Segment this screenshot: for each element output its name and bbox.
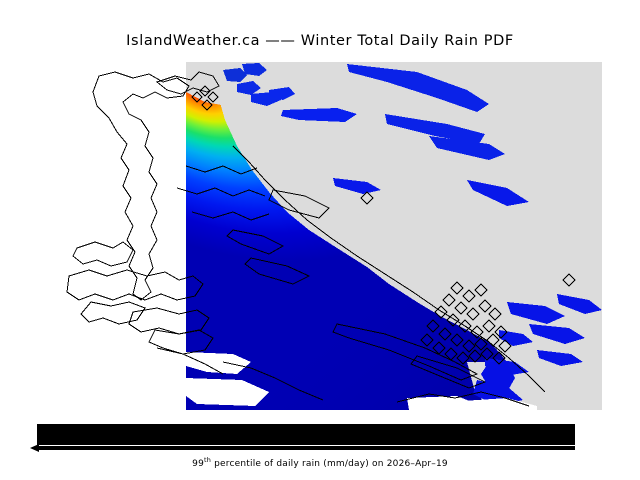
colorbar-arrow-icon	[30, 444, 39, 452]
page-title: IslandWeather.ca —— Winter Total Daily R…	[0, 33, 640, 49]
map-plot-area	[37, 62, 602, 410]
colorbar-caption: 99th percentile of daily rain (mm/day) o…	[0, 459, 640, 469]
colorbar	[37, 424, 575, 445]
colorbar-gradient	[37, 424, 575, 445]
caption-text: percentile of daily rain (mm/day) on 202…	[211, 459, 448, 469]
caption-percentile-number: 99	[192, 459, 204, 469]
rain-map-svg	[37, 62, 602, 410]
colorbar-baseline	[37, 446, 575, 450]
